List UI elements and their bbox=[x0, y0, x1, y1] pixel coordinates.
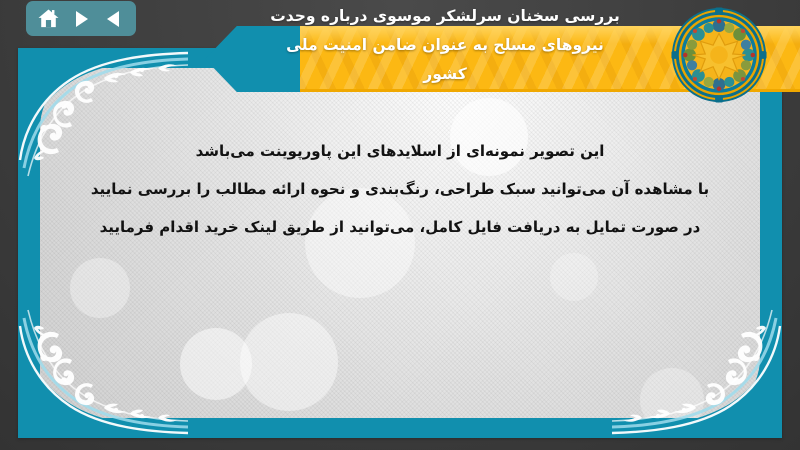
slide-navigation-bar[interactable] bbox=[26, 1, 136, 36]
triangle-right-icon bbox=[70, 8, 92, 30]
previous-slide-button[interactable] bbox=[101, 6, 127, 32]
next-slide-button[interactable] bbox=[68, 6, 94, 32]
presentation-viewer: این تصویر نمونه‌ای از اسلایدهای این پاور… bbox=[0, 0, 800, 450]
slide-body-line: این تصویر نمونه‌ای از اسلایدهای این پاور… bbox=[58, 132, 742, 170]
bokeh-circle bbox=[240, 313, 338, 411]
home-button[interactable] bbox=[35, 6, 61, 32]
home-icon bbox=[37, 7, 60, 30]
bokeh-circle bbox=[550, 253, 598, 301]
slide-inner: این تصویر نمونه‌ای از اسلایدهای این پاور… bbox=[18, 48, 782, 438]
slide-canvas[interactable]: این تصویر نمونه‌ای از اسلایدهای این پاور… bbox=[18, 48, 782, 438]
slide-body-line: در صورت تمایل به دریافت فایل کامل، می‌تو… bbox=[58, 208, 742, 246]
persian-rosette-medallion-icon bbox=[670, 6, 768, 104]
triangle-left-icon bbox=[103, 8, 125, 30]
corner-ornament-bottom-right-icon bbox=[612, 303, 782, 438]
slide-body-text: این تصویر نمونه‌ای از اسلایدهای این پاور… bbox=[58, 132, 742, 246]
corner-ornament-bottom-left-icon bbox=[18, 303, 188, 438]
slide-body-line: با مشاهده آن می‌توانید سبک طراحی، رنگ‌بن… bbox=[58, 170, 742, 208]
